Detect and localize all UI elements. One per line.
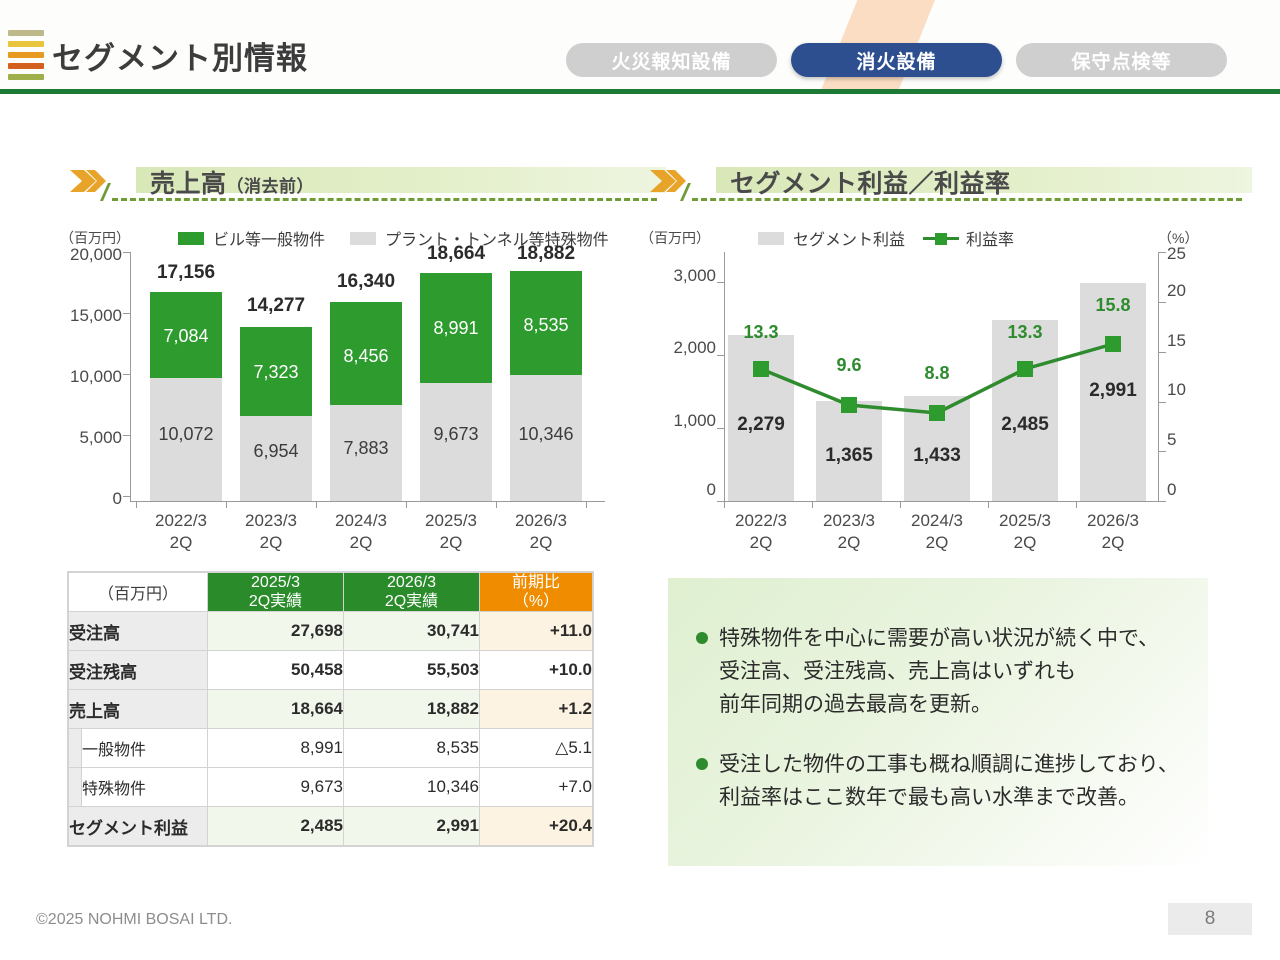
legend-swatch-gray xyxy=(350,232,376,245)
row-label-orders: 受注高 xyxy=(69,612,208,651)
rate-label-2: 8.8 xyxy=(894,363,980,384)
rate-label-0: 13.3 xyxy=(718,322,804,343)
profit-bar-label-3: 2,485 xyxy=(982,414,1068,436)
ytick-r-3000: 3,000 xyxy=(640,266,716,286)
table-row: 受注残高 50,458 55,503 +10.0 xyxy=(69,651,593,690)
page-number: 8 xyxy=(1168,903,1252,935)
row-segment-profit-v1: 2,485 xyxy=(208,807,344,846)
bar-general-label-1: 7,323 xyxy=(232,362,320,383)
table-row: 特殊物件 9,673 10,346 +7.0 xyxy=(69,768,593,807)
xcat-r-4: 2026/32Q xyxy=(1068,510,1158,554)
row-label-special: 特殊物件 xyxy=(82,768,208,807)
tab-maintenance[interactable]: 保守点検等 xyxy=(1016,43,1227,77)
ytick-20000: 20,000 xyxy=(60,245,122,265)
y-axis-line-2 xyxy=(724,252,725,502)
row-indent-spacer xyxy=(69,729,82,768)
rate-label-4: 15.8 xyxy=(1070,295,1156,316)
comment-item-1: 受注した物件の工事も概ね順調に進捗しており、 利益率はここ数年で最も高い水準まで… xyxy=(696,748,1206,814)
chart-unit-label-left-2: （百万円） xyxy=(640,228,710,248)
y-axis-line xyxy=(130,252,131,502)
row-label-backlog: 受注残高 xyxy=(69,651,208,690)
y2-axis-line xyxy=(1158,252,1159,502)
row-special-v2: 10,346 xyxy=(344,768,480,807)
copyright-text: ©2025 NOHMI BOSAI LTD. xyxy=(36,911,232,929)
row-general-v1: 8,991 xyxy=(208,729,344,768)
xcat-r-2: 2024/32Q xyxy=(892,510,982,554)
ytick-r-2000: 2,000 xyxy=(640,338,716,358)
legend-segment-profit: セグメント利益 xyxy=(758,226,905,250)
ytick2-20: 20 xyxy=(1167,281,1186,301)
header-divider xyxy=(0,89,1280,94)
ytick-r-1000: 1,000 xyxy=(640,411,716,431)
legend-swatch-gray-2 xyxy=(758,232,784,245)
bar-total-label-3: 18,664 xyxy=(412,243,500,265)
profit-bar-3 xyxy=(992,320,1058,501)
table-header-yoy: 前期比（%） xyxy=(480,573,593,612)
bar-total-label-4: 18,882 xyxy=(502,243,590,265)
x-axis-line-2 xyxy=(724,501,1158,502)
bar-total-label-0: 17,156 xyxy=(142,262,230,284)
row-orders-v2: 30,741 xyxy=(344,612,480,651)
bar-general-label-0: 7,084 xyxy=(142,326,230,347)
bar-total-label-2: 16,340 xyxy=(322,271,410,293)
bar-general-label-2: 8,456 xyxy=(322,346,410,367)
row-segment-profit-v2: 2,991 xyxy=(344,807,480,846)
xcat-r-3: 2025/32Q xyxy=(980,510,1070,554)
table-header-fy2026: 2026/32Q実績 xyxy=(344,573,480,612)
table-row: セグメント利益 2,485 2,991 +20.4 xyxy=(69,807,593,846)
xcat-4: 2026/32Q xyxy=(496,510,586,554)
x-axis-line xyxy=(130,501,605,502)
ytick2-5: 5 xyxy=(1167,430,1176,450)
xcat-2: 2024/32Q xyxy=(316,510,406,554)
xcat-r-1: 2023/32Q xyxy=(804,510,894,554)
profit-bar-label-2: 1,433 xyxy=(894,445,980,467)
profit-bar-label-1: 1,365 xyxy=(806,445,892,467)
table-header-unit: （百万円） xyxy=(69,573,208,612)
bullet-dot-icon xyxy=(696,632,708,644)
comment-item-0: 特殊物件を中心に需要が高い状況が続く中で、 受注高、受注残高、売上高はいずれも … xyxy=(696,622,1196,721)
xcat-3: 2025/32Q xyxy=(406,510,496,554)
row-backlog-v2: 55,503 xyxy=(344,651,480,690)
row-sales-v1: 18,664 xyxy=(208,690,344,729)
page-title: セグメント別情報 xyxy=(52,33,308,78)
bar-special-label-2: 7,883 xyxy=(322,438,410,459)
bullet-dot-icon xyxy=(696,758,708,770)
section-title-left: 売上高（消去前） xyxy=(150,164,314,200)
legend-general-property: ビル等一般物件 xyxy=(178,226,325,250)
row-general-v3: △5.1 xyxy=(480,729,593,768)
ytick-5000: 5,000 xyxy=(60,428,122,448)
table-row: 一般物件 8,991 8,535 △5.1 xyxy=(69,729,593,768)
xcat-1: 2023/32Q xyxy=(226,510,316,554)
bar-special-label-0: 10,072 xyxy=(142,424,230,445)
bar-special-label-4: 10,346 xyxy=(502,424,590,445)
section-header-profit: セグメント利益／利益率 xyxy=(648,165,1193,211)
table-header-row: （百万円） 2025/32Q実績 2026/32Q実績 前期比（%） xyxy=(69,573,593,612)
row-backlog-v3: +10.0 xyxy=(480,651,593,690)
table-header-fy2025: 2025/32Q実績 xyxy=(208,573,344,612)
table-row: 受注高 27,698 30,741 +11.0 xyxy=(69,612,593,651)
legend-swatch-line xyxy=(923,232,959,245)
comment-text-1: 受注した物件の工事も概ね順調に進捗しており、 利益率はここ数年で最も高い水準まで… xyxy=(719,748,1179,814)
xcat-0: 2022/32Q xyxy=(136,510,226,554)
row-label-general: 一般物件 xyxy=(82,729,208,768)
segment-profit-combo-chart: （百万円） （%） セグメント利益 利益率 0 1,000 2,000 3,00… xyxy=(640,222,1200,552)
sales-stacked-bar-chart: （百万円） ビル等一般物件 プラント・トンネル等特殊物件 0 5,000 10,… xyxy=(60,222,620,552)
comment-text-0: 特殊物件を中心に需要が高い状況が続く中で、 受注高、受注残高、売上高はいずれも … xyxy=(719,622,1159,721)
row-indent-spacer xyxy=(69,768,82,807)
row-sales-v3: +1.2 xyxy=(480,690,593,729)
bar-total-label-1: 14,277 xyxy=(232,295,320,317)
bar-special-label-3: 9,673 xyxy=(412,424,500,445)
legend-profit-rate: 利益率 xyxy=(923,226,1014,250)
tab-fire-extinguishing[interactable]: 消火設備 xyxy=(791,43,1002,77)
profit-bar-label-0: 2,279 xyxy=(718,414,804,436)
legend-swatch-green xyxy=(178,232,204,245)
row-orders-v1: 27,698 xyxy=(208,612,344,651)
ytick2-10: 10 xyxy=(1167,380,1186,400)
row-backlog-v1: 50,458 xyxy=(208,651,344,690)
segment-summary-table: （百万円） 2025/32Q実績 2026/32Q実績 前期比（%） 受注高 2… xyxy=(68,572,593,846)
bar-general-label-3: 8,991 xyxy=(412,318,500,339)
section-title-right: セグメント利益／利益率 xyxy=(730,164,1011,200)
rate-label-3: 13.3 xyxy=(982,322,1068,343)
row-special-v1: 9,673 xyxy=(208,768,344,807)
rate-label-1: 9.6 xyxy=(806,355,892,376)
commentary-box: 特殊物件を中心に需要が高い状況が続く中で、 受注高、受注残高、売上高はいずれも … xyxy=(668,578,1208,866)
company-logo-mark xyxy=(8,30,44,88)
row-general-v2: 8,535 xyxy=(344,729,480,768)
section-header-sales: 売上高（消去前） xyxy=(68,165,608,211)
row-segment-profit-v3: +20.4 xyxy=(480,807,593,846)
ytick-r-0: 0 xyxy=(640,480,716,500)
ytick-15000: 15,000 xyxy=(60,306,122,326)
ytick-0: 0 xyxy=(60,489,122,509)
table-row: 売上高 18,664 18,882 +1.2 xyxy=(69,690,593,729)
slide-header: セグメント別情報 火災報知設備 消火設備 保守点検等 xyxy=(0,0,1280,94)
row-label-sales: 売上高 xyxy=(69,690,208,729)
ytick-10000: 10,000 xyxy=(60,367,122,387)
profit-bar-label-4: 2,991 xyxy=(1070,380,1156,402)
bar-special-label-1: 6,954 xyxy=(232,441,320,462)
row-label-segment-profit: セグメント利益 xyxy=(69,807,208,846)
tab-fire-alarm[interactable]: 火災報知設備 xyxy=(566,43,777,77)
row-special-v3: +7.0 xyxy=(480,768,593,807)
bar-general-label-4: 8,535 xyxy=(502,315,590,336)
row-sales-v2: 18,882 xyxy=(344,690,480,729)
ytick2-25: 25 xyxy=(1167,244,1186,264)
xcat-r-0: 2022/32Q xyxy=(716,510,806,554)
row-orders-v3: +11.0 xyxy=(480,612,593,651)
ytick2-0: 0 xyxy=(1167,480,1176,500)
ytick2-15: 15 xyxy=(1167,331,1186,351)
